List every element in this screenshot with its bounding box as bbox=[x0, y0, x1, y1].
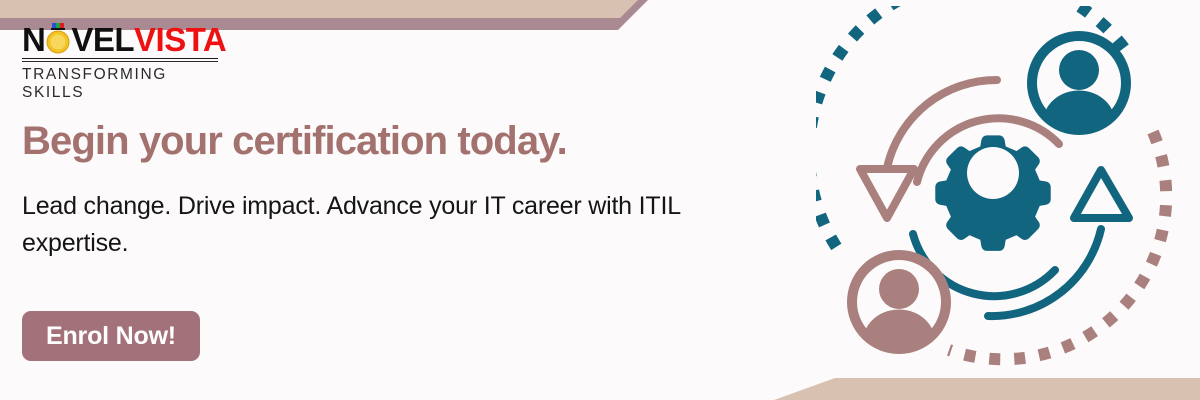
logo-rule-top bbox=[22, 58, 218, 59]
continual-improvement-cycle-illustration bbox=[816, 6, 1186, 386]
enrol-now-button[interactable]: Enrol Now! bbox=[22, 311, 200, 361]
brand-logo[interactable]: N VEL VISTA TRANSFORMING SKILLS bbox=[22, 22, 222, 102]
gold-medal-icon bbox=[45, 23, 71, 55]
person-avatar-teal bbox=[1032, 36, 1126, 131]
logo-wordmark: N VEL VISTA bbox=[22, 22, 222, 56]
top-diagonal-band-tan bbox=[0, 0, 680, 18]
subheading-text: Lead change. Drive impact. Advance your … bbox=[22, 188, 752, 261]
logo-text-vista: VISTA bbox=[134, 23, 226, 56]
gear-icon bbox=[941, 141, 1046, 246]
logo-text-n: N bbox=[22, 23, 45, 56]
page-title: Begin your certification today. bbox=[22, 119, 567, 164]
logo-divider-rules bbox=[22, 58, 218, 62]
person-avatar-mauve bbox=[852, 255, 946, 350]
logo-tagline: TRANSFORMING SKILLS bbox=[22, 66, 222, 102]
logo-text-vel: VEL bbox=[71, 23, 134, 56]
promo-banner: N VEL VISTA TRANSFORMING SKILLS Begin bbox=[0, 0, 1200, 400]
logo-rule-bottom bbox=[22, 61, 218, 62]
